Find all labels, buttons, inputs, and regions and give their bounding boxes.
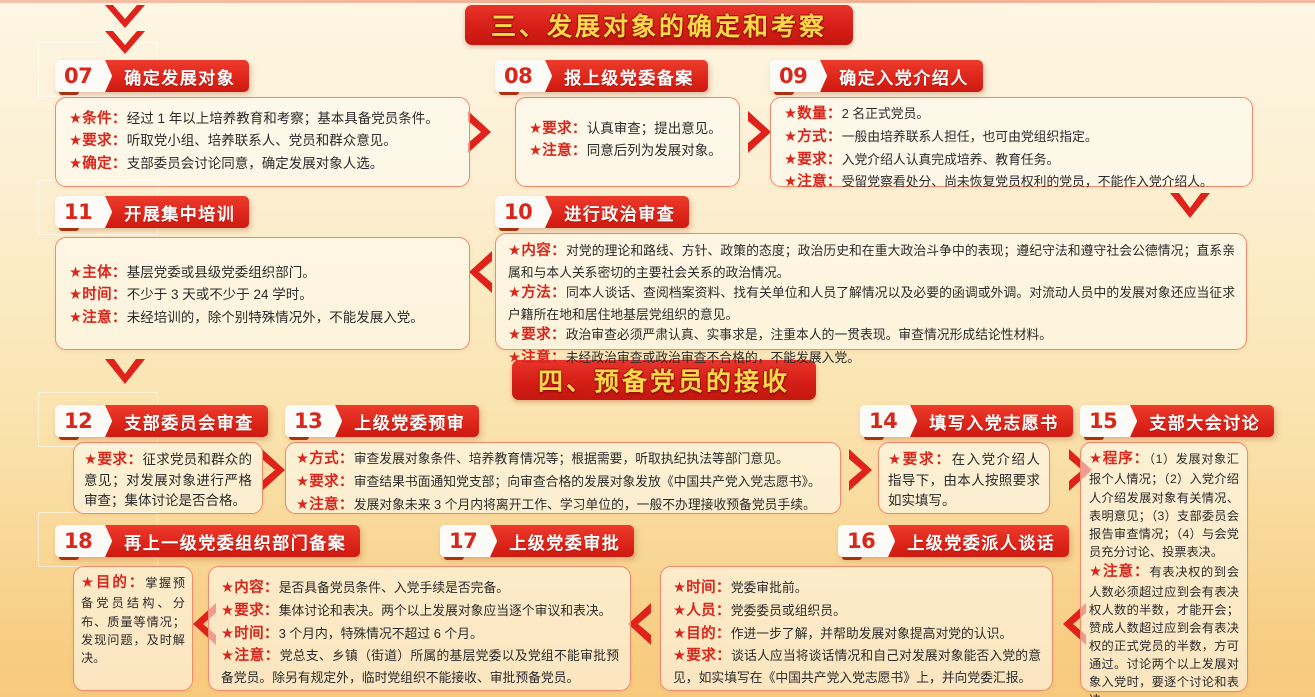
step-number-badge: 14 [860,405,902,437]
step-number-badge: 11 [55,196,97,228]
bullet-line: ★时间：3 个月内，特殊情况不超过 6 个月。 [221,624,619,646]
chevron-right-icon [845,446,875,494]
card-header[interactable]: 09 确定入党介绍人 [770,60,983,92]
card-title-bar: 上级党委派人谈话 [887,525,1069,557]
section-banner-3: 三、发展对象的确定和考察 [465,5,853,45]
card-title-bar: 开展集中培训 [104,196,249,228]
bullet-line: ★要求：认真审查；提出意见。 [529,119,727,140]
card-body: ★目的：掌握预备党员结构、分布、质量等情况；发现问题，及时解决。 [73,566,193,691]
chevron-down-icon [103,28,147,58]
card-header[interactable]: 12 支部委员会审查 [55,405,268,437]
bullet-line: ★注意：受留党察看处分、尚未恢复党员权利的党员，不能作入党介绍人。 [784,172,1240,194]
bullet-line: ★注意：未经政治审查或政治审查不合格的，不能发展入党。 [508,348,1235,370]
bullet-line: ★要求：征求党员和群众的意见；对发展对象进行严格审查；集体讨论是否合格。 [84,450,252,511]
card-header[interactable]: 10 进行政治审查 [495,196,689,228]
section-title: 三、发展对象的确定和考察 [491,7,827,43]
card-body: ★要求：在入党介绍人指导下，由本人按照要求如实填写。 [878,442,1050,514]
bullet-line: ★时间：不少于 3 天或不少于 24 学时。 [69,285,457,306]
bullet-line: ★方式：一般由培养联系人担任，也可由党组织指定。 [784,127,1240,149]
card-header[interactable]: 17 上级党委审批 [440,525,634,557]
bullet-line: ★要求：在入党介绍人指导下，由本人按照要求如实填写。 [888,450,1040,511]
card-header[interactable]: 13 上级党委预审 [285,405,479,437]
step-number-badge: 08 [495,60,537,92]
bullet-line: ★确定：支部委员会讨论同意，确定发展对象人选。 [69,154,457,175]
card-title-bar: 支部大会讨论 [1129,405,1274,437]
card-body: ★主体：基层党委或县级党委组织部门。 ★时间：不少于 3 天或不少于 24 学时… [55,237,470,350]
card-header[interactable]: 08 报上级党委备案 [495,60,708,92]
chevron-left-icon [466,248,496,296]
bullet-line: ★方式：审查发展对象条件、培养教育情况等；根据需要，听取执纪执法等部门意见。 [296,449,830,471]
step-number-badge: 18 [55,525,97,557]
step-number-badge: 09 [770,60,812,92]
card-body: ★程序：（1）发展对象汇报个人情况；（2）入党介绍人介绍发展对象有关情况、表明意… [1080,442,1248,692]
bullet-line: ★程序：（1）发展对象汇报个人情况；（2）入党介绍人介绍发展对象有关情况、表明意… [1089,449,1239,561]
card-title-bar: 确定入党介绍人 [819,60,983,92]
bullet-line: ★目的：作进一步了解，并帮助发展对象提高对党的认识。 [673,624,1041,646]
card-title-bar: 确定发展对象 [104,60,249,92]
card-header[interactable]: 11 开展集中培训 [55,196,249,228]
step-number-badge: 12 [55,405,97,437]
bullet-line: ★人员：党委委员或组织员。 [673,601,1041,623]
chevron-down-icon [103,356,147,388]
step-number-badge: 10 [495,196,537,228]
card-header[interactable]: 14 填写入党志愿书 [860,405,1073,437]
card-title-bar: 再上一级党委组织部门备案 [104,525,360,557]
card-body: ★内容：对党的理论和路线、方针、政策的态度；政治历史和在重大政治斗争中的表现；遵… [495,233,1247,350]
bullet-line: ★注意：同意后列为发展对象。 [529,141,727,162]
step-number-badge: 07 [55,60,97,92]
bullet-line: ★要求：入党介绍人认真完成培养、教育任务。 [784,150,1240,172]
card-title-bar: 报上级党委备案 [544,60,708,92]
bullet-line: ★要求：审查结果书面通知党支部；向审查合格的发展对象发放《中国共产党入党志愿书》… [296,472,830,494]
bullet-line: ★注意：党总支、乡镇（街道）所属的基层党委以及党组不能审批预备党员。除另有规定外… [221,646,619,687]
card-body: ★方式：审查发展对象条件、培养教育情况等；根据需要，听取执纪执法等部门意见。 ★… [285,442,841,514]
bullet-line: ★要求：集体讨论和表决。两个以上发展对象应当逐个审议和表决。 [221,601,619,623]
step-number-badge: 16 [838,525,880,557]
card-title-bar: 进行政治审查 [544,196,689,228]
bullet-line: ★主体：基层党委或县级党委组织部门。 [69,263,457,284]
card-body: ★内容：是否具备党员条件、入党手续是否完备。 ★要求：集体讨论和表决。两个以上发… [208,566,631,691]
card-title-bar: 上级党委审批 [489,525,634,557]
step-number-badge: 17 [440,525,482,557]
bullet-line: ★要求：谈话人应当将谈话情况和自己对发展对象能否入党的意见，如实填写在《中国共产… [673,646,1041,687]
card-title-bar: 上级党委预审 [334,405,479,437]
bullet-line: ★条件：经过 1 年以上培养教育和考察；基本具备党员条件。 [69,109,457,130]
bullet-line: ★内容：是否具备党员条件、入党手续是否完备。 [221,578,619,600]
bullet-line: ★目的：掌握预备党员结构、分布、质量等情况；发现问题，及时解决。 [81,573,185,667]
bullet-line: ★数量：2 名正式党员。 [784,104,1240,126]
card-body: ★要求：认真审查；提出意见。 ★注意：同意后列为发展对象。 [515,97,740,187]
bullet-line: ★注意：有表决权的到会人数必须超过应到会有表决权人数的半数，才能开会；赞成人数超… [1089,562,1239,697]
bullet-line: ★要求：政治审查必须严肃认真、实事求是，注重本人的一贯表现。审查情况形成结论性材… [508,325,1235,347]
top-divider [0,0,1315,3]
card-title-bar: 支部委员会审查 [104,405,268,437]
bullet-line: ★内容：对党的理论和路线、方针、政策的态度；政治历史和在重大政治斗争中的表现；遵… [508,241,1235,282]
card-header[interactable]: 16 上级党委派人谈话 [838,525,1069,557]
bullet-line: ★注意：发展对象未来 3 个月内将离开工作、学习单位的，一般不办理接收预备党员手… [296,495,830,517]
card-body: ★条件：经过 1 年以上培养教育和考察；基本具备党员条件。 ★要求：听取党小组、… [55,97,470,187]
bullet-line: ★要求：听取党小组、培养联系人、党员和群众意见。 [69,131,457,152]
card-body: ★数量：2 名正式党员。 ★方式：一般由培养联系人担任，也可由党组织指定。 ★要… [770,97,1253,187]
bullet-line: ★方法：同本人谈话、查阅档案资料、找有关单位和人员了解情况以及必要的函调或外调。… [508,283,1235,324]
card-header[interactable]: 18 再上一级党委组织部门备案 [55,525,360,557]
card-title-bar: 填写入党志愿书 [909,405,1073,437]
card-header[interactable]: 07 确定发展对象 [55,60,249,92]
card-body: ★时间：党委审批前。 ★人员：党委委员或组织员。 ★目的：作进一步了解，并帮助发… [660,566,1053,691]
card-body: ★要求：征求党员和群众的意见；对发展对象进行严格审查；集体讨论是否合格。 [73,442,263,514]
step-number-badge: 13 [285,405,327,437]
step-number-badge: 15 [1080,405,1122,437]
bullet-line: ★注意：未经培训的，除个别特殊情况外，不能发展入党。 [69,308,457,329]
card-header[interactable]: 15 支部大会讨论 [1080,405,1274,437]
bullet-line: ★时间：党委审批前。 [673,578,1041,600]
